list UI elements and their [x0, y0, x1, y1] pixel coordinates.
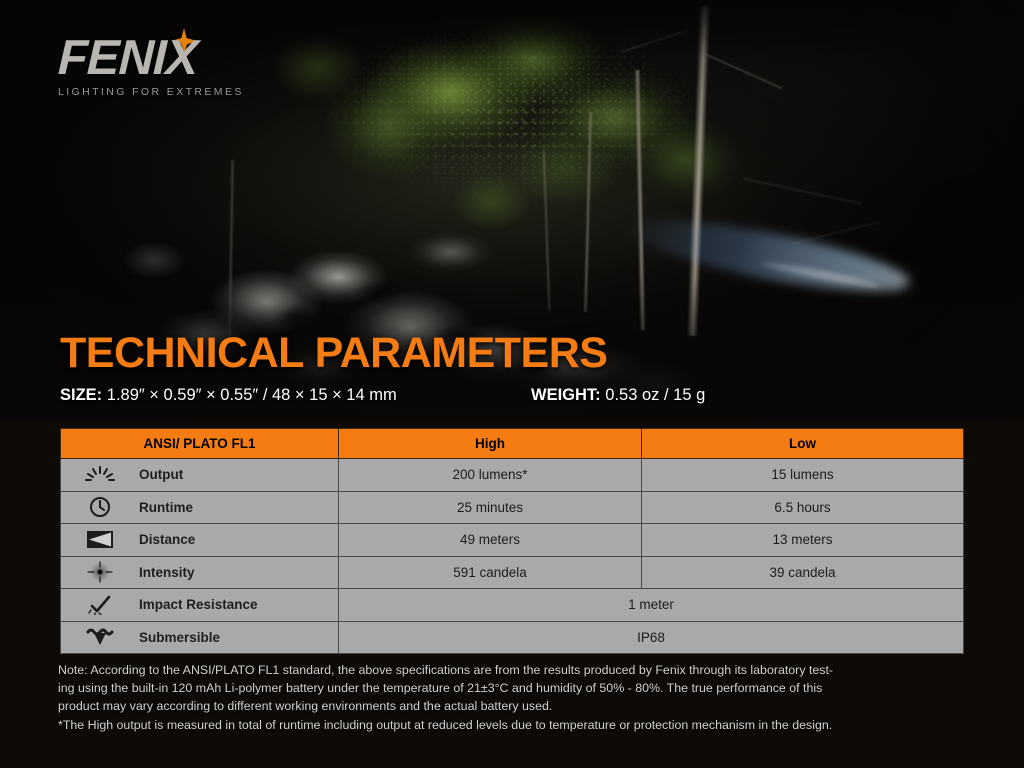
- table-header-row: ANSI/ PLATO FL1 High Low: [61, 429, 964, 459]
- row-label-impact-resistance: Impact Resistance: [61, 589, 339, 622]
- size-label: SIZE:: [60, 386, 102, 404]
- cell-runtime-low: 6.5 hours: [642, 491, 964, 524]
- cell-intensity-low: 39 candela: [642, 556, 964, 589]
- row-label-text: Impact Resistance: [139, 597, 258, 612]
- row-label-intensity: Intensity: [61, 556, 339, 589]
- row-label-text: Intensity: [139, 565, 195, 580]
- size-weight-line: SIZE: 1.89″ × 0.59″ × 0.55″ / 48 × 15 × …: [60, 386, 964, 408]
- product-spec-page: FENIX LIGHTING FOR EXTREMES TECHNICAL PA…: [0, 0, 1024, 768]
- cell-distance-low: 13 meters: [642, 524, 964, 557]
- table-row: Runtime 25 minutes 6.5 hours: [61, 491, 964, 524]
- row-label-text: Output: [139, 467, 183, 482]
- footnote-block: Note: According to the ANSI/PLATO FL1 st…: [58, 661, 966, 734]
- footnote-line-1: Note: According to the ANSI/PLATO FL1 st…: [58, 661, 966, 679]
- row-label-distance: Distance: [61, 524, 339, 557]
- header-high: High: [339, 429, 642, 459]
- table-body: Output 200 lumens* 15 lumens: [61, 459, 964, 654]
- row-label-text: Distance: [139, 532, 195, 547]
- footnote-line-4: *The High output is measured in total of…: [58, 716, 966, 734]
- weight-label: WEIGHT:: [531, 386, 601, 404]
- cell-distance-high: 49 meters: [339, 524, 642, 557]
- row-label-submersible: Submersible: [61, 621, 339, 654]
- fenix-logo: FENIX LIGHTING FOR EXTREMES: [58, 34, 298, 106]
- table-row: Intensity 591 candela 39 candela: [61, 556, 964, 589]
- cell-runtime-high: 25 minutes: [339, 491, 642, 524]
- table-row: Submersible IP68: [61, 621, 964, 654]
- page-title: TECHNICAL PARAMETERS: [60, 332, 607, 375]
- weight-spec: WEIGHT: 0.53 oz / 15 g: [531, 386, 705, 405]
- weight-value: 0.53 oz / 15 g: [605, 386, 705, 404]
- row-label-text: Submersible: [139, 630, 220, 645]
- cell-output-high: 200 lumens*: [339, 459, 642, 492]
- size-value: 1.89″ × 0.59″ × 0.55″ / 48 × 15 × 14 mm: [107, 386, 397, 404]
- cell-impact-resistance-value: 1 meter: [339, 589, 964, 622]
- impact-check-icon: [61, 595, 139, 615]
- row-label-text: Runtime: [139, 500, 193, 515]
- footnote-line-2: ing using the built-in 120 mAh Li-polyme…: [58, 679, 966, 697]
- header-low: Low: [642, 429, 964, 459]
- beam-cone-icon: [61, 530, 139, 549]
- cell-submersible-value: IP68: [339, 621, 964, 654]
- size-spec: SIZE: 1.89″ × 0.59″ × 0.55″ / 48 × 15 × …: [60, 386, 397, 405]
- water-waves-icon: [61, 627, 139, 647]
- light-burst-icon: [61, 465, 139, 485]
- footnote-line-3: product may vary according to different …: [58, 697, 966, 715]
- table-row: Distance 49 meters 13 meters: [61, 524, 964, 557]
- cell-intensity-high: 591 candela: [339, 556, 642, 589]
- row-label-runtime: Runtime: [61, 491, 339, 524]
- brand-tagline: LIGHTING FOR EXTREMES: [58, 86, 298, 98]
- header-standard: ANSI/ PLATO FL1: [61, 429, 339, 459]
- brand-name: FENIX: [57, 34, 299, 83]
- row-label-output: Output: [61, 459, 339, 492]
- cell-output-low: 15 lumens: [642, 459, 964, 492]
- technical-parameters-table: ANSI/ PLATO FL1 High Low: [60, 428, 964, 654]
- table-row: Impact Resistance 1 meter: [61, 589, 964, 622]
- table-row: Output 200 lumens* 15 lumens: [61, 459, 964, 492]
- clock-icon: [61, 496, 139, 518]
- intensity-icon: [61, 561, 139, 583]
